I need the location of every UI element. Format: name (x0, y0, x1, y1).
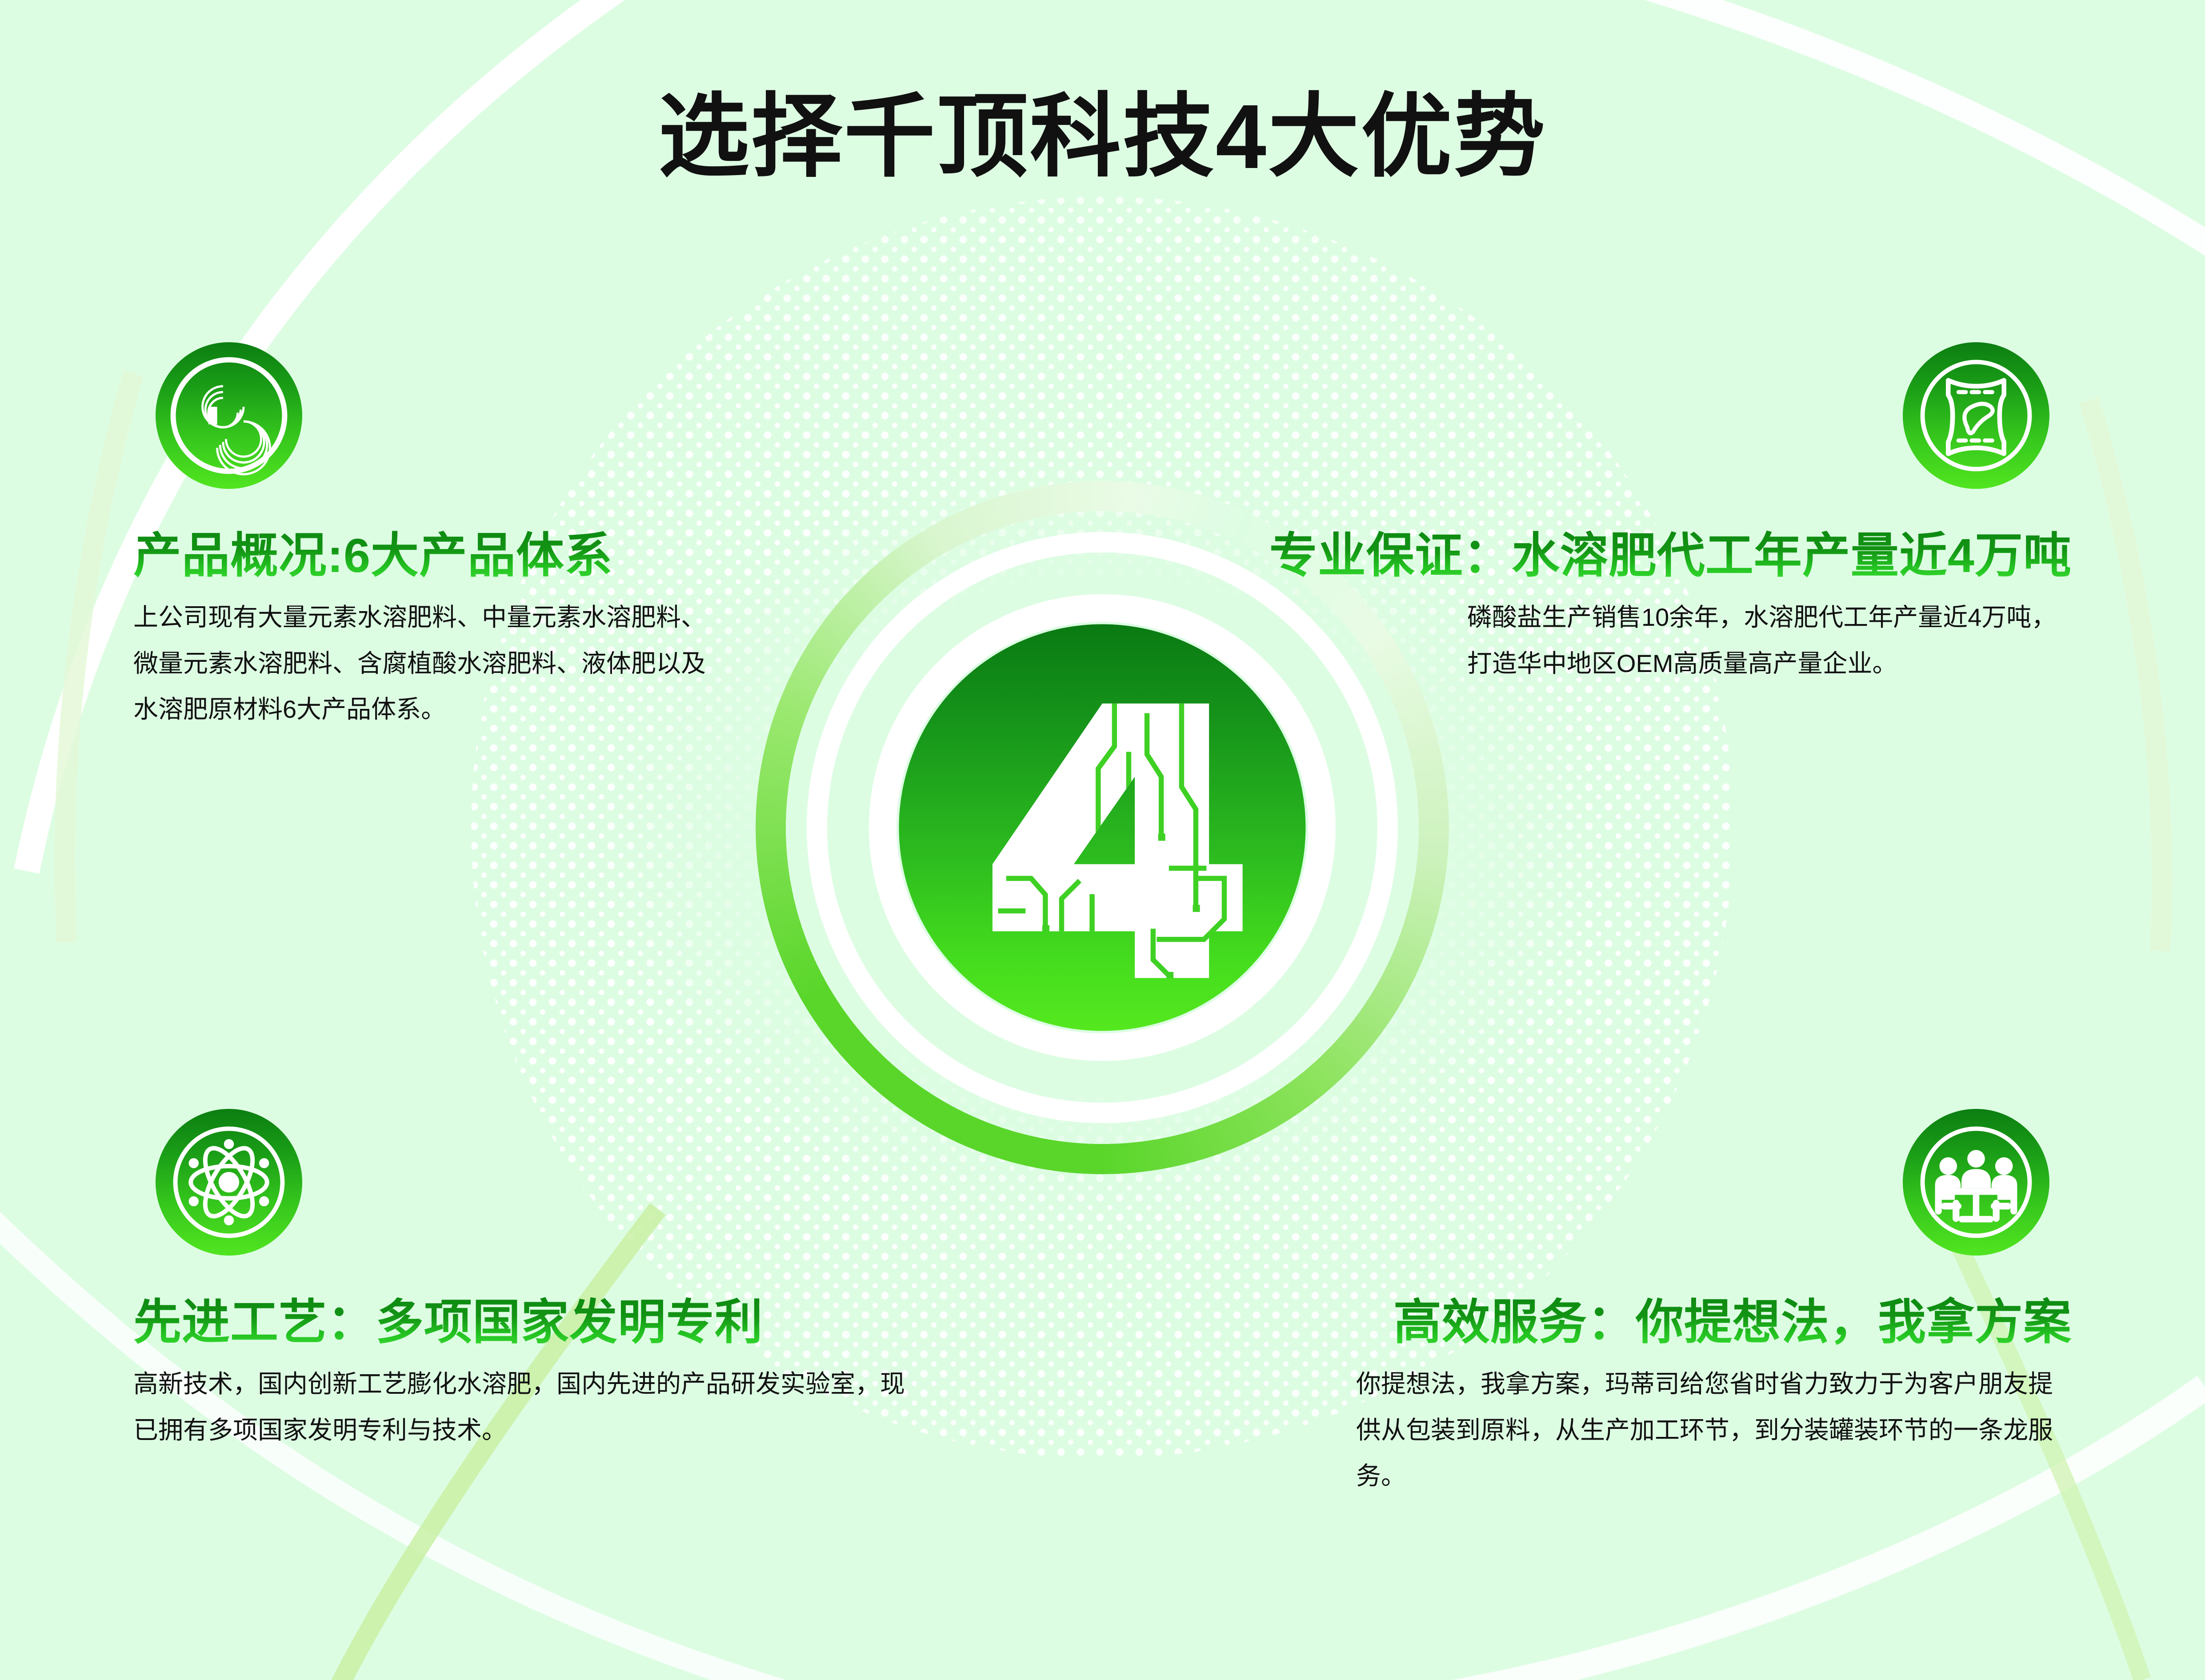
fertilizer-bag-icon (1903, 342, 2049, 489)
meeting-table-glyph (1903, 1109, 2049, 1256)
decor-arc-green-left (65, 373, 133, 942)
feature-body: 磷酸盐生产销售10余年，水溶肥代工年产量近4万吨，打造华中地区OEM高质量高产量… (1467, 594, 2072, 686)
atom-glyph (156, 1109, 302, 1256)
atom-icon (156, 1109, 302, 1256)
page-title: 选择千顶科技4大优势 (0, 91, 2205, 182)
feature-body: 上公司现有大量元素水溶肥料、中量元素水溶肥料、微量元素水溶肥料、含腐植酸水溶肥料… (133, 594, 707, 732)
spiral-six-icon (156, 342, 302, 489)
feature-body: 高新技术，国内创新工艺膨化水溶肥，国内先进的产品研发实验室，现已拥有多项国家发明… (133, 1361, 916, 1453)
feature-text-bottom-left: 先进工艺：多项国家发明专利 高新技术，国内创新工艺膨化水溶肥，国内先进的产品研发… (133, 1296, 916, 1453)
feature-heading: 专业保证：水溶肥代工年产量近4万吨 (1165, 529, 2072, 583)
feature-body: 你提想法，我拿方案，玛蒂司给您省时省力致力于为客户朋友提供从包装到原料，从生产加… (1356, 1361, 2072, 1499)
feature-text-top-left: 产品概况:6大产品体系 上公司现有大量元素水溶肥料、中量元素水溶肥料、微量元素水… (133, 529, 707, 732)
decor-arc-green-right (2089, 400, 2162, 951)
feature-heading: 高效服务：你提想法，我拿方案 (1285, 1296, 2072, 1349)
meeting-table-icon (1903, 1109, 2049, 1256)
fertilizer-bag-glyph (1903, 342, 2049, 489)
spiral-six-glyph (156, 342, 302, 489)
feature-text-top-right: 专业保证：水溶肥代工年产量近4万吨 磷酸盐生产销售10余年，水溶肥代工年产量近4… (1165, 529, 2072, 686)
feature-text-bottom-right: 高效服务：你提想法，我拿方案 你提想法，我拿方案，玛蒂司给您省时省力致力于为客户… (1285, 1296, 2072, 1499)
feature-heading: 产品概况:6大产品体系 (133, 529, 707, 583)
feature-heading: 先进工艺：多项国家发明专利 (133, 1296, 916, 1349)
